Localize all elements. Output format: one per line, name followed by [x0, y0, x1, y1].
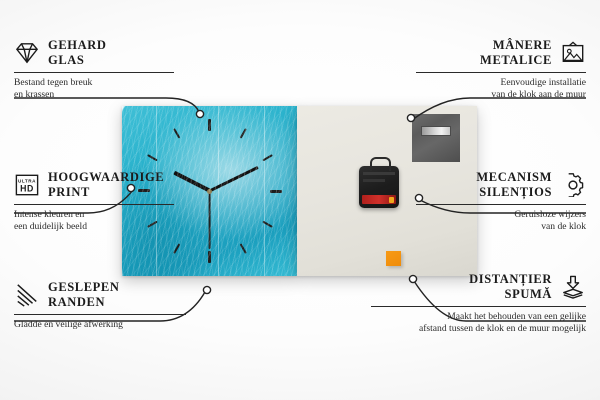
diamond-icon: [14, 41, 40, 65]
callout-gehard-glas[interactable]: GEHARD GLAS Bestand tegen breuk en krass…: [14, 38, 174, 102]
callout-rule: [14, 72, 174, 73]
callout-title: DISTANȚIER SPUMĂ: [469, 272, 552, 303]
foam-spacer: [386, 251, 401, 266]
callout-description: Gladde en veilige afwerking: [14, 319, 186, 332]
arrow-down-layers-icon: [560, 275, 586, 299]
callout-rule: [416, 72, 586, 73]
callout-manere-metalice[interactable]: MÂNERE METALICE Eenvoudige installatie v…: [416, 38, 586, 102]
callout-title: HOOGWAARDIGE PRINT: [48, 170, 164, 201]
callout-rule: [416, 204, 586, 205]
clock-hub: [207, 189, 212, 194]
callout-rule: [14, 204, 174, 205]
svg-text:HD: HD: [20, 184, 34, 194]
callout-title: MÂNERE METALICE: [480, 38, 552, 69]
callout-title-row: MECANISM SILENȚIOS: [416, 170, 586, 201]
callout-description: Intense kleuren en een duidelijk beeld: [14, 209, 174, 235]
callout-title-row: MÂNERE METALICE: [416, 38, 586, 69]
callout-mecanism-silentios[interactable]: MECANISM SILENȚIOS Geruisloze wijzers va…: [416, 170, 586, 234]
battery: [362, 195, 396, 204]
diagonal-lines-icon: [14, 283, 40, 307]
callout-title: GESLEPEN RANDEN: [48, 280, 120, 311]
clock-second-hand: [209, 191, 211, 249]
callout-distantier-spuma[interactable]: DISTANȚIER SPUMĂ Maakt het behouden van …: [371, 272, 586, 336]
callout-title: MECANISM SILENȚIOS: [476, 170, 552, 201]
callout-title-row: GEHARD GLAS: [14, 38, 174, 69]
ultra-hd-icon: ultra HD: [14, 173, 40, 197]
quartz-mechanism: [359, 166, 399, 208]
infographic-stage: GEHARD GLAS Bestand tegen breuk en krass…: [0, 0, 600, 400]
callout-title: GEHARD GLAS: [48, 38, 106, 69]
callout-geslepen-randen[interactable]: GESLEPEN RANDEN Gladde en veilige afwerk…: [14, 280, 186, 331]
callout-title-row: DISTANȚIER SPUMĂ: [371, 272, 586, 303]
callout-rule: [371, 306, 586, 307]
callout-rule: [14, 314, 186, 315]
callout-hoogwaardige-print[interactable]: ultra HD HOOGWAARDIGE PRINT Intense kleu…: [14, 170, 174, 234]
metal-hanger: [412, 114, 460, 162]
callout-description: Eenvoudige installatie van de klok aan d…: [416, 77, 586, 103]
clock-minute-hand: [209, 166, 259, 192]
gear-icon: [560, 173, 586, 197]
callout-title-row: GESLEPEN RANDEN: [14, 280, 186, 311]
clock-hour-hand: [173, 171, 210, 192]
framed-picture-icon: [560, 41, 586, 65]
callout-description: Bestand tegen breuk en krassen: [14, 77, 174, 103]
callout-description: Maakt het behouden van een gelijke afsta…: [371, 311, 586, 337]
callout-title-row: ultra HD HOOGWAARDIGE PRINT: [14, 170, 174, 201]
callout-description: Geruisloze wijzers van de klok: [416, 209, 586, 235]
